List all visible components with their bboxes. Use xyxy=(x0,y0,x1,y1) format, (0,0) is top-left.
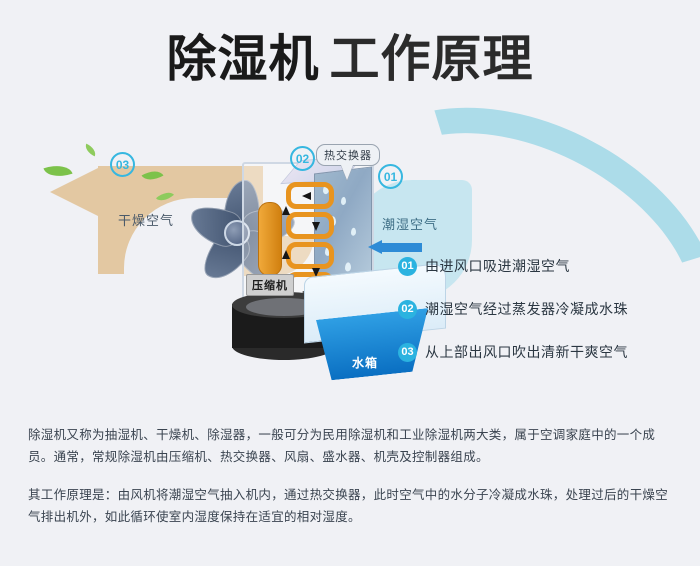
arrow-shaft xyxy=(380,243,422,252)
page-title-part1: 除湿机 xyxy=(167,31,320,87)
step-badge-02: 02 xyxy=(398,300,417,319)
page-title: 除湿机工作原理 xyxy=(0,32,700,87)
step-text-01: 由进风口吸进潮湿空气 xyxy=(425,256,570,276)
coil-loop xyxy=(286,212,334,239)
receiver-cylinder xyxy=(258,202,282,276)
description-block: 除湿机又称为抽湿机、干燥机、除湿器，一般可分为民用除湿机和工业除湿机两大类，属于… xyxy=(28,424,676,544)
flow-arrow-up-icon xyxy=(282,206,290,215)
step-text-03: 从上部出风口吹出清新干爽空气 xyxy=(425,342,628,362)
infographic-page: 除湿机工作原理 xyxy=(0,0,700,566)
callout-label-moist-air: 潮湿空气 xyxy=(382,214,438,233)
list-item: 03 从上部出风口吹出清新干爽空气 xyxy=(398,342,688,362)
step-badge-01: 01 xyxy=(398,257,417,276)
step-badge-03: 03 xyxy=(398,343,417,362)
water-droplet xyxy=(351,227,356,236)
compressor-label: 压缩机 xyxy=(246,274,294,296)
leaf-icon xyxy=(83,144,98,157)
flow-arrow-down-icon xyxy=(312,222,320,231)
list-item: 01 由进风口吸进潮湿空气 xyxy=(398,256,688,276)
page-title-part2: 工作原理 xyxy=(330,31,534,87)
callout-bubble-heat-exchanger: 热交换器 xyxy=(316,144,380,166)
water-droplet xyxy=(341,197,346,206)
coil-loop xyxy=(286,242,334,269)
callout-label-dry-air: 干燥空气 xyxy=(118,210,174,229)
list-item: 02 潮湿空气经过蒸发器冷凝成水珠 xyxy=(398,299,688,319)
callout-badge-01: 01 xyxy=(378,164,403,189)
description-paragraph-1: 除湿机又称为抽湿机、干燥机、除湿器，一般可分为民用除湿机和工业除湿机两大类，属于… xyxy=(28,424,676,468)
flow-arrow-left-icon xyxy=(302,192,311,200)
water-tank-label: 水箱 xyxy=(352,354,378,371)
callout-badge-02: 02 xyxy=(290,146,315,171)
callout-badge-03: 03 xyxy=(110,152,135,177)
moist-air-intake-arrow xyxy=(368,240,422,254)
flow-arrow-up-icon xyxy=(282,250,290,259)
description-paragraph-2: 其工作原理是：由风机将潮湿空气抽入机内，通过热交换器，此时空气中的水分子冷凝成水… xyxy=(28,484,676,528)
step-list: 01 由进风口吸进潮湿空气 02 潮湿空气经过蒸发器冷凝成水珠 03 从上部出风… xyxy=(398,256,688,385)
arrow-head xyxy=(368,240,382,254)
step-text-02: 潮湿空气经过蒸发器冷凝成水珠 xyxy=(425,299,628,319)
